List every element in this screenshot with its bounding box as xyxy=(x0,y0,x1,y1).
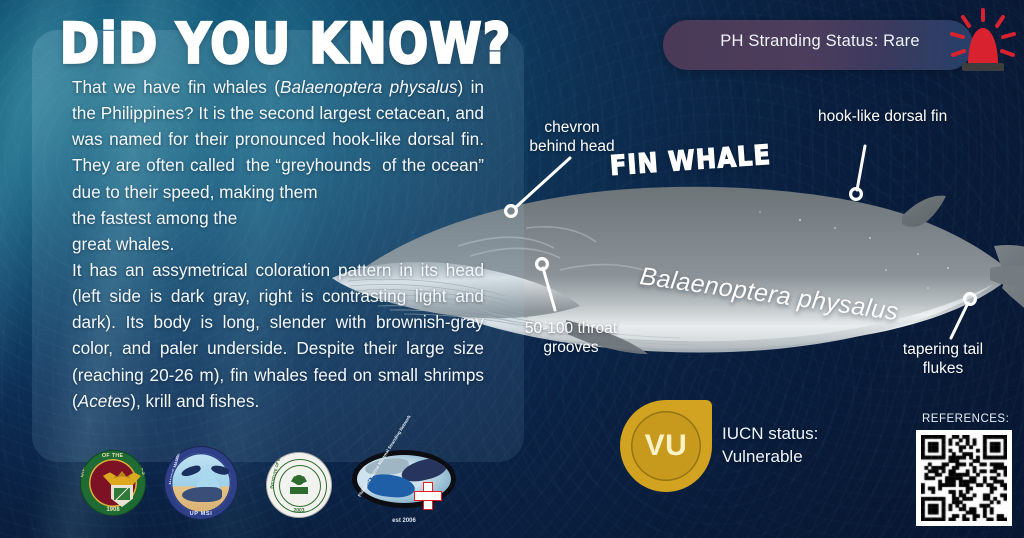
logo-mmrcl-seal: MARINE MAMMAL RESEARCH & CONSERVATION LA… xyxy=(164,446,238,520)
callout-flukes-line1: tapering tail xyxy=(888,340,998,359)
paragraph-one-tail: the fastest among the xyxy=(72,205,484,231)
callout-throat-line1: 50-100 throat xyxy=(508,319,634,338)
dolphin-icon xyxy=(180,464,201,478)
whale-icon xyxy=(182,487,222,502)
logo-iesm-seal: INSTITUTE OF ENVIRONMENTAL SCIENCE & MET… xyxy=(266,452,332,518)
iucn-badge: VU xyxy=(620,400,712,492)
infographic-poster: DiD YOU KNOW? That we have fin whales (B… xyxy=(0,0,1024,538)
mmrcl-inner xyxy=(171,453,231,513)
medical-cross-icon xyxy=(414,482,440,508)
siren-icon xyxy=(946,8,1020,76)
stranding-status-label: PH Stranding Status: Rare xyxy=(685,32,955,51)
acetes-inline: Acetes xyxy=(78,391,131,411)
callout-dorsal-fin: hook-like dorsal fin xyxy=(818,107,978,126)
pmmsn-established: est 2006 xyxy=(352,518,456,524)
iucn-status-line1: IUCN status: xyxy=(722,423,882,446)
mmrcl-bottom-text: UP MSI xyxy=(164,511,238,517)
references-label: REFERENCES: xyxy=(922,413,1009,425)
scientific-name-inline: Balaenoptera physalus xyxy=(280,77,457,97)
logo-pmmsn: Philippine Marine Mammal Stranding Netwo… xyxy=(352,448,456,524)
partner-logos: OF THE UNIVERSITY PHILIPPINES 1908 MARIN… xyxy=(80,450,460,532)
qr-canvas[interactable] xyxy=(921,435,1007,521)
paragraph-one: That we have fin whales (Balaenoptera ph… xyxy=(72,74,484,205)
up-seal-inner xyxy=(89,459,137,507)
iucn-code: VU xyxy=(631,411,701,481)
iucn-status-line2: Vulnerable xyxy=(722,446,882,469)
panel-body-text: That we have fin whales (Balaenoptera ph… xyxy=(72,74,484,414)
eagle-icon xyxy=(103,471,141,485)
callout-throat-grooves: 50-100 throat grooves xyxy=(508,319,634,358)
iesm-year: 2003 xyxy=(266,508,332,514)
up-seal-year: 1908 xyxy=(80,507,146,513)
paragraph-two: It has an assymetrical coloration patter… xyxy=(72,257,484,414)
callout-flukes-line2: flukes xyxy=(888,359,998,378)
callout-tail-flukes: tapering tail flukes xyxy=(888,340,998,379)
callout-chevron-line1: chevron xyxy=(512,118,632,137)
paragraph-one-tail2: great whales. xyxy=(72,231,484,257)
callout-dorsal-fin-line1: hook-like dorsal fin xyxy=(818,107,978,126)
logo-up-seal: OF THE UNIVERSITY PHILIPPINES 1908 xyxy=(80,450,146,516)
page-title: DiD YOU KNOW? xyxy=(60,12,512,77)
references-qr-code[interactable] xyxy=(916,430,1012,526)
iucn-status-text: IUCN status: Vulnerable xyxy=(722,423,882,469)
callout-throat-line2: grooves xyxy=(508,338,634,357)
